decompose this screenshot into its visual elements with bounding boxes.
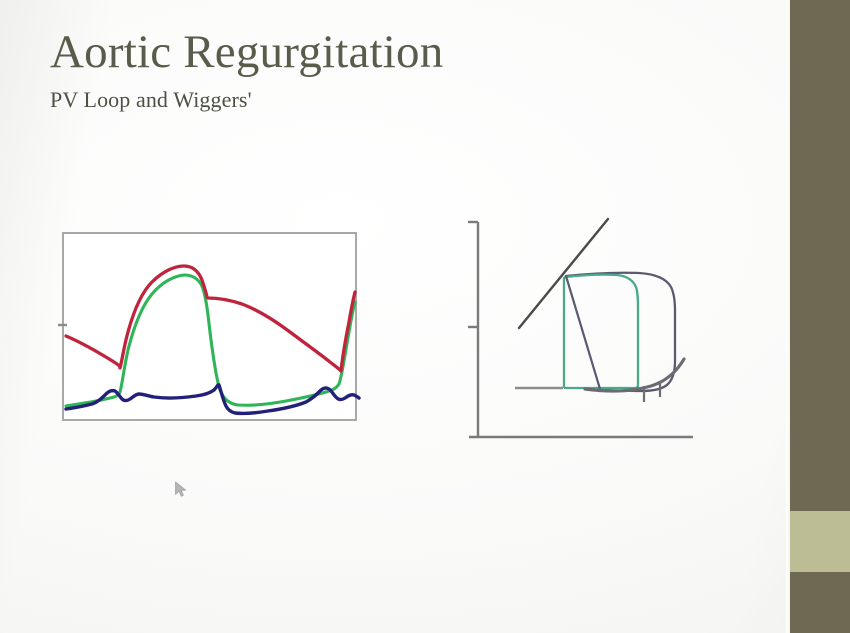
slide-decorative-sidebar <box>790 0 850 633</box>
page-title: Aortic Regurgitation <box>50 28 750 77</box>
page-subtitle: PV Loop and Wiggers' <box>50 87 750 113</box>
mouse-pointer-icon <box>174 481 188 498</box>
title-block: Aortic Regurgitation PV Loop and Wiggers… <box>50 28 750 113</box>
aortic-valve-closure-line <box>566 276 600 389</box>
presentation-slide: Aortic Regurgitation PV Loop and Wiggers… <box>0 0 850 633</box>
wiggers-diagram-figure <box>58 228 363 428</box>
pv-loop-diagram-figure <box>455 205 710 455</box>
wiggers-diagram-svg <box>58 228 363 428</box>
pv-loop-diagram-svg <box>455 205 710 455</box>
sidebar-accent-band <box>790 511 850 572</box>
normal-pv-loop <box>565 275 638 388</box>
